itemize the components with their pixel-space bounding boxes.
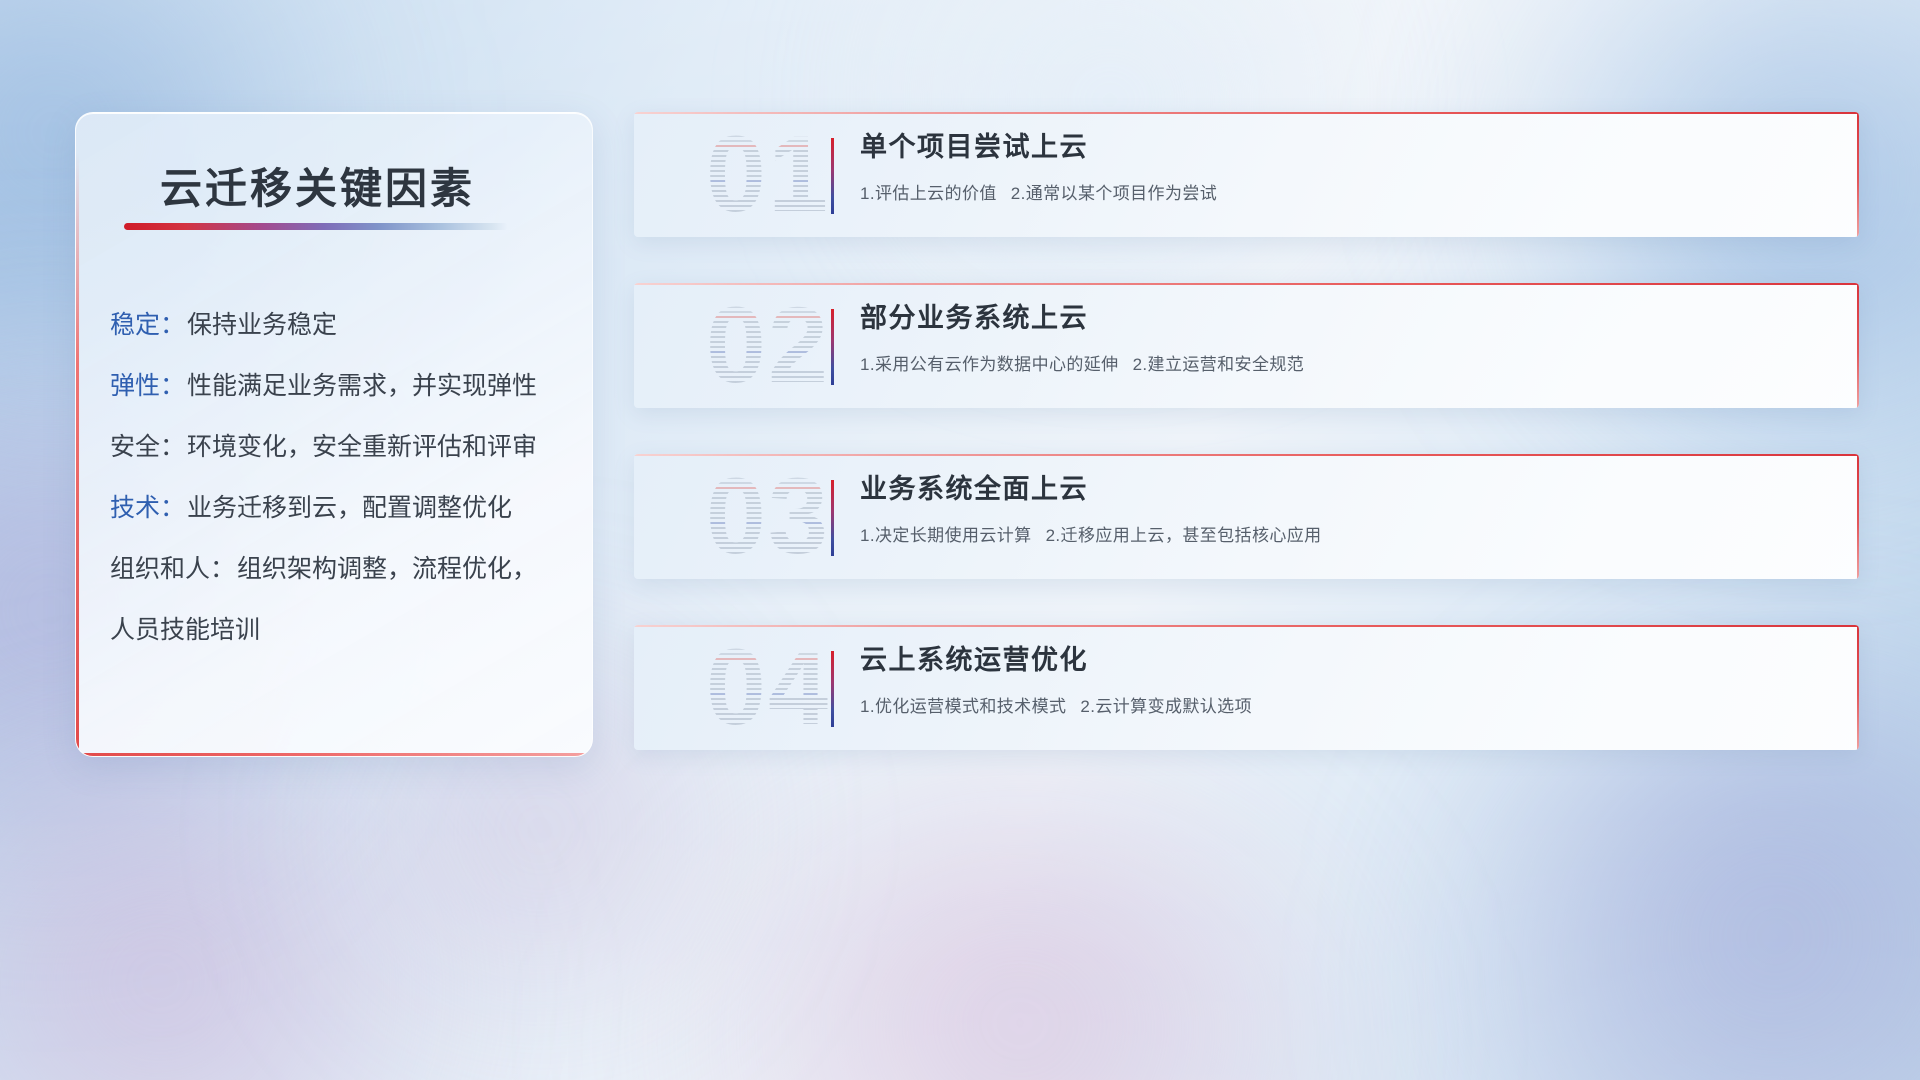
factor-label: 安全： xyxy=(110,435,185,460)
step-description: 1.优化运营模式和技术模式2.云计算变成默认选项 xyxy=(860,692,1823,717)
step-description: 1.评估上云的价值2.通常以某个项目作为尝试 xyxy=(860,179,1823,204)
factor-list: 稳定： 保持业务稳定 弹性： 性能满足业务需求，并实现弹性 安全： 环境变化，安… xyxy=(110,313,568,679)
step-title: 部分业务系统上云 xyxy=(860,301,1823,336)
factor-text: 业务迁移到云，配置调整优化 xyxy=(187,496,512,521)
factor-row: 安全： 环境变化，安全重新评估和评审 xyxy=(110,435,568,460)
factor-row: 技术： 业务迁移到云，配置调整优化 xyxy=(110,496,568,521)
title-underline-accent xyxy=(124,223,508,230)
step-title: 业务系统全面上云 xyxy=(860,472,1823,507)
step-divider-accent xyxy=(831,309,834,385)
step-point-2: 2.建立运营和安全规范 xyxy=(1133,355,1305,374)
step-point-2: 2.云计算变成默认选项 xyxy=(1080,697,1252,716)
factor-text: 性能满足业务需求，并实现弹性 xyxy=(187,374,537,399)
slide-stage: 云迁移关键因素 稳定： 保持业务稳定 弹性： 性能满足业务需求，并实现弹性 安全… xyxy=(0,0,1920,1080)
step-point-2: 2.迁移应用上云，甚至包括核心应用 xyxy=(1046,526,1322,545)
step-number-watermark: 04 xyxy=(658,625,878,750)
step-card[interactable]: 04 云上系统运营优化 1.优化运营模式和技术模式2.云计算变成默认选项 xyxy=(634,625,1859,750)
step-divider-accent xyxy=(831,651,834,727)
step-description: 1.决定长期使用云计算2.迁移应用上云，甚至包括核心应用 xyxy=(860,521,1823,546)
step-body: 云上系统运营优化 1.优化运营模式和技术模式2.云计算变成默认选项 xyxy=(860,643,1823,717)
step-body: 单个项目尝试上云 1.评估上云的价值2.通常以某个项目作为尝试 xyxy=(860,130,1823,204)
factor-label: 组织和人： xyxy=(110,557,235,582)
factor-text: 人员技能培训 xyxy=(110,618,260,643)
step-title: 云上系统运营优化 xyxy=(860,643,1823,678)
step-body: 业务系统全面上云 1.决定长期使用云计算2.迁移应用上云，甚至包括核心应用 xyxy=(860,472,1823,546)
factor-label: 稳定： xyxy=(110,313,185,338)
key-factors-panel: 云迁移关键因素 稳定： 保持业务稳定 弹性： 性能满足业务需求，并实现弹性 安全… xyxy=(75,112,593,757)
step-number-watermark: 03 xyxy=(658,454,878,579)
factor-text: 保持业务稳定 xyxy=(187,313,337,338)
step-description: 1.采用公有云作为数据中心的延伸2.建立运营和安全规范 xyxy=(860,350,1823,375)
step-card[interactable]: 03 业务系统全面上云 1.决定长期使用云计算2.迁移应用上云，甚至包括核心应用 xyxy=(634,454,1859,579)
factor-row: 弹性： 性能满足业务需求，并实现弹性 xyxy=(110,374,568,399)
factor-text: 组织架构调整，流程优化， xyxy=(237,557,537,582)
factor-text: 环境变化，安全重新评估和评审 xyxy=(187,435,537,460)
factor-row-continuation: 人员技能培训 xyxy=(110,618,568,643)
step-number-watermark: 02 xyxy=(658,283,878,408)
migration-steps-list: 01 单个项目尝试上云 1.评估上云的价值2.通常以某个项目作为尝试 02 部分… xyxy=(634,112,1859,796)
step-card[interactable]: 01 单个项目尝试上云 1.评估上云的价值2.通常以某个项目作为尝试 xyxy=(634,112,1859,237)
step-point-1: 1.优化运营模式和技术模式 xyxy=(860,697,1066,716)
step-point-1: 1.决定长期使用云计算 xyxy=(860,526,1032,545)
factor-label: 弹性： xyxy=(110,374,185,399)
step-point-1: 1.评估上云的价值 xyxy=(860,184,997,203)
step-divider-accent xyxy=(831,480,834,556)
step-point-2: 2.通常以某个项目作为尝试 xyxy=(1011,184,1217,203)
factor-row: 组织和人： 组织架构调整，流程优化， xyxy=(110,557,568,582)
step-divider-accent xyxy=(831,138,834,214)
step-card[interactable]: 02 部分业务系统上云 1.采用公有云作为数据中心的延伸2.建立运营和安全规范 xyxy=(634,283,1859,408)
factor-row: 稳定： 保持业务稳定 xyxy=(110,313,568,338)
step-point-1: 1.采用公有云作为数据中心的延伸 xyxy=(860,355,1119,374)
step-title: 单个项目尝试上云 xyxy=(860,130,1823,165)
factor-label: 技术： xyxy=(110,496,185,521)
step-body: 部分业务系统上云 1.采用公有云作为数据中心的延伸2.建立运营和安全规范 xyxy=(860,301,1823,375)
panel-title: 云迁移关键因素 xyxy=(160,155,475,216)
step-number-watermark: 01 xyxy=(658,112,878,237)
